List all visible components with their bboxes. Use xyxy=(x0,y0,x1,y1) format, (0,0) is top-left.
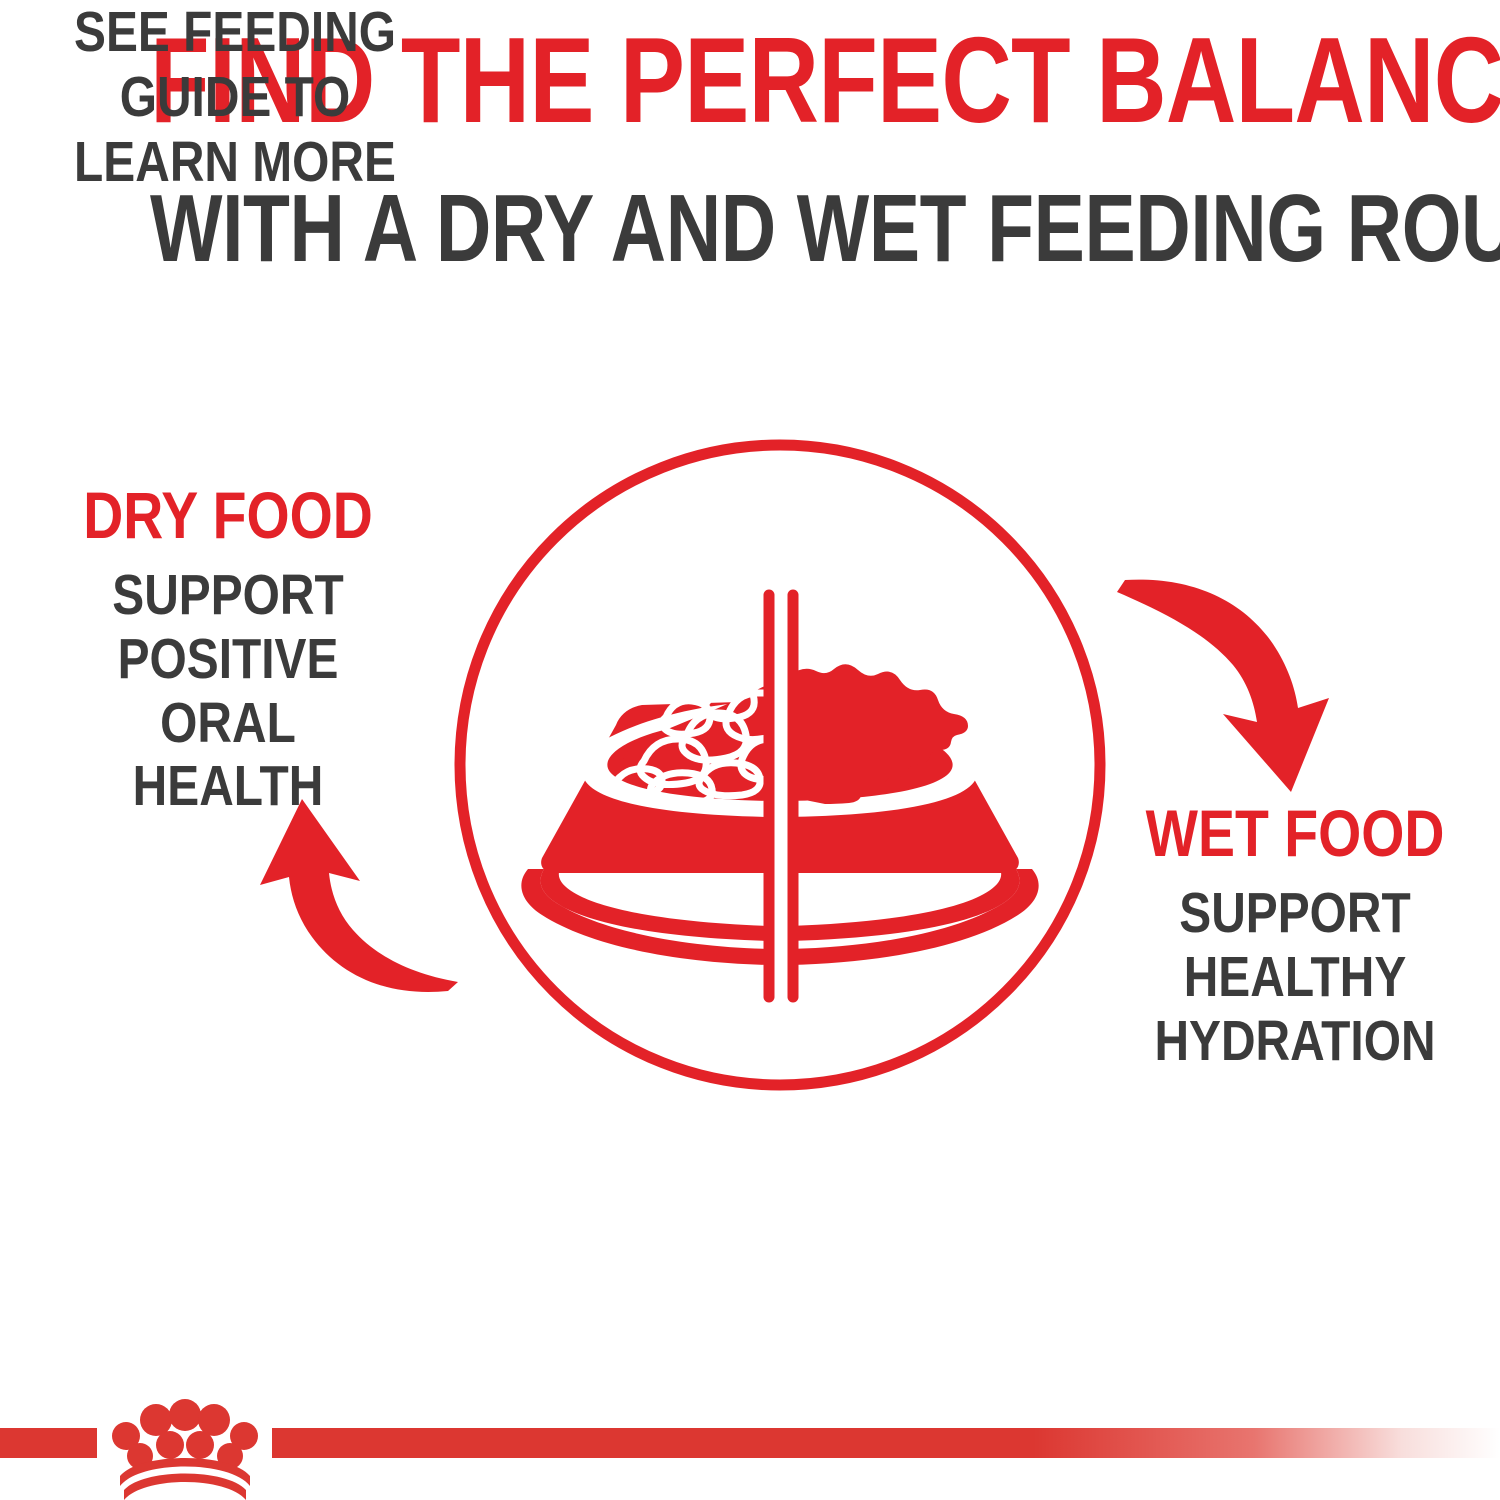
feeding-guide-cta-block: SEE FEEDING GUIDE TO LEARN MORE xyxy=(0,0,470,195)
wet-food-description: SUPPORT HEALTHY HYDRATION xyxy=(1123,882,1467,1073)
cta-line-1: SEE FEEDING xyxy=(38,0,433,65)
footer xyxy=(0,1415,1500,1500)
infographic-canvas: FIND THE PERFECT BALANCE WITH A DRY AND … xyxy=(0,0,1500,1500)
wet-food-line-2: HYDRATION xyxy=(1123,1010,1467,1074)
curved-arrow-up-left-icon xyxy=(190,785,490,1045)
dry-food-title: DRY FOOD xyxy=(52,482,405,548)
dry-food-description: SUPPORT POSITIVE ORAL HEALTH xyxy=(52,564,405,819)
dry-food-line-1: SUPPORT xyxy=(52,564,405,628)
footer-bar-right xyxy=(272,1428,1500,1458)
wet-food-label-block: WET FOOD SUPPORT HEALTHY HYDRATION xyxy=(1090,800,1500,1073)
royal-canin-crown-logo xyxy=(100,1390,270,1500)
footer-bar-left xyxy=(0,1428,97,1458)
cta-line-3: LEARN MORE xyxy=(38,130,433,195)
dry-food-line-2: POSITIVE ORAL xyxy=(52,628,405,756)
feeding-guide-cta-text: SEE FEEDING GUIDE TO LEARN MORE xyxy=(38,0,433,195)
dry-food-label-block: DRY FOOD SUPPORT POSITIVE ORAL HEALTH xyxy=(18,482,438,819)
curved-arrow-down-right-icon xyxy=(1095,552,1385,817)
cta-line-2: GUIDE TO xyxy=(38,65,433,130)
split-feeding-bowl-icon xyxy=(440,425,1120,1105)
wet-food-line-1: SUPPORT HEALTHY xyxy=(1123,882,1467,1010)
